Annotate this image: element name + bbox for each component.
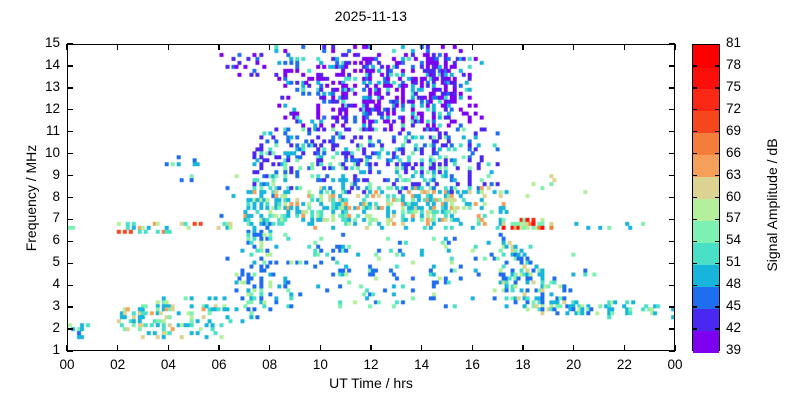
colorbar-tick [692,306,697,307]
y-axis-tick [67,285,73,286]
y-axis-tick-right [669,87,675,88]
y-axis-tick-right [669,175,675,176]
x-axis-label: UT Time / hrs [67,375,675,391]
colorbar-tick [715,65,720,66]
y-axis-tick [67,328,73,329]
y-axis-tick [67,219,73,220]
colorbar-tick-label: 72 [726,101,741,116]
colorbar-tick-label: 75 [726,79,741,94]
y-axis-tick [67,306,73,307]
y-axis-tick [67,197,73,198]
x-axis-tick-top [421,44,422,50]
ionogram-figure: 2025-11-13 00020406081012141618202200123… [0,0,800,400]
colorbar-tick [692,285,697,286]
x-axis-tick [624,345,625,351]
colorbar-tick [692,131,697,132]
y-axis-tick [67,65,73,66]
colorbar-tick-label: 81 [726,35,741,50]
y-axis-tick [67,241,73,242]
x-axis-tick [168,345,169,351]
colorbar-tick-label: 39 [726,342,741,357]
colorbar-tick [715,263,720,264]
colorbar-tick-label: 78 [726,57,741,72]
plot-area [67,44,675,351]
x-axis-tick [522,345,523,351]
colorbar-tick-label: 60 [726,189,741,204]
x-axis-tick-label: 06 [199,357,239,372]
x-axis-tick-label: 10 [300,357,340,372]
colorbar-tick-label: 54 [726,232,741,247]
x-axis-tick-label: 14 [402,357,442,372]
colorbar-tick [692,263,697,264]
y-axis-tick-right [669,263,675,264]
y-axis-tick [67,43,73,44]
y-axis-tick-right [669,285,675,286]
y-axis-tick-right [669,219,675,220]
y-axis-tick-right [669,306,675,307]
colorbar-tick [692,153,697,154]
colorbar-tick [715,153,720,154]
x-axis-tick [320,345,321,351]
y-axis-tick-right [669,109,675,110]
colorbar-tick-label: 66 [726,145,741,160]
colorbar-tick [715,87,720,88]
x-axis-tick [218,345,219,351]
x-axis-tick-top [522,44,523,50]
colorbar-tick-label: 45 [726,298,741,313]
y-axis-tick-right [669,328,675,329]
colorbar-title: Signal Amplitude / dB [764,105,780,305]
colorbar-tick [692,65,697,66]
x-axis-tick-label: 04 [148,357,188,372]
colorbar-tick [715,285,720,286]
y-axis-tick-right [669,350,675,351]
x-axis-tick [370,345,371,351]
y-axis-tick [67,87,73,88]
colorbar-tick [715,131,720,132]
colorbar-tick [692,197,697,198]
x-axis-tick-top [218,44,219,50]
y-axis-tick-label: 14 [20,57,60,72]
colorbar-tick [692,219,697,220]
y-axis-tick-label: 15 [20,35,60,50]
x-axis-tick-label: 00 [655,357,695,372]
colorbar-tick-label: 42 [726,320,741,335]
colorbar-tick [715,328,720,329]
x-axis-tick-top [320,44,321,50]
y-axis-tick-right [669,241,675,242]
colorbar-tick [715,241,720,242]
y-axis-tick [67,263,73,264]
colorbar-tick [715,306,720,307]
x-axis-tick-top [269,44,270,50]
colorbar-tick-label: 48 [726,276,741,291]
colorbar-ticks [692,44,720,351]
y-axis-tick-label: 2 [20,320,60,335]
y-axis-tick [67,350,73,351]
x-axis-tick-top [168,44,169,50]
y-axis-tick-label: 1 [20,342,60,357]
x-axis-tick-label: 18 [503,357,543,372]
x-axis-tick-label: 00 [47,357,87,372]
x-axis-tick-label: 16 [452,357,492,372]
x-axis-tick-top [66,44,67,50]
y-axis-tick-right [669,197,675,198]
colorbar-tick [715,109,720,110]
colorbar-tick [715,175,720,176]
y-axis-tick [67,153,73,154]
colorbar-tick-label: 57 [726,210,741,225]
x-axis-tick-top [117,44,118,50]
y-axis-tick [67,175,73,176]
x-axis-tick [269,345,270,351]
y-axis-tick-right [669,43,675,44]
colorbar-tick [692,87,697,88]
scatter-data-layer [68,45,674,350]
x-axis-tick-top [573,44,574,50]
x-axis-tick-top [624,44,625,50]
colorbar-tick-label: 63 [726,167,741,182]
y-axis-tick [67,131,73,132]
x-axis-tick-label: 22 [604,357,644,372]
page-title: 2025-11-13 [0,8,742,24]
y-axis-tick [67,109,73,110]
y-axis-label: Frequency / MHz [23,88,39,308]
x-axis-tick [421,345,422,351]
colorbar-tick [692,109,697,110]
x-axis-tick-label: 20 [554,357,594,372]
y-axis-tick-right [669,65,675,66]
colorbar-tick [692,328,697,329]
x-axis-tick-top [370,44,371,50]
colorbar-tick [715,219,720,220]
x-axis-tick-label: 12 [351,357,391,372]
x-axis-tick-top [472,44,473,50]
colorbar-tick-label: 69 [726,123,741,138]
x-axis-tick [573,345,574,351]
colorbar-tick-label: 51 [726,254,741,269]
x-axis-tick-label: 08 [250,357,290,372]
x-axis-tick [472,345,473,351]
y-axis-tick-right [669,153,675,154]
colorbar-tick [715,197,720,198]
colorbar-tick [692,241,697,242]
x-axis-tick-top [674,44,675,50]
x-axis-tick-label: 02 [98,357,138,372]
colorbar-tick [692,175,697,176]
x-axis-tick [117,345,118,351]
y-axis-tick-right [669,131,675,132]
